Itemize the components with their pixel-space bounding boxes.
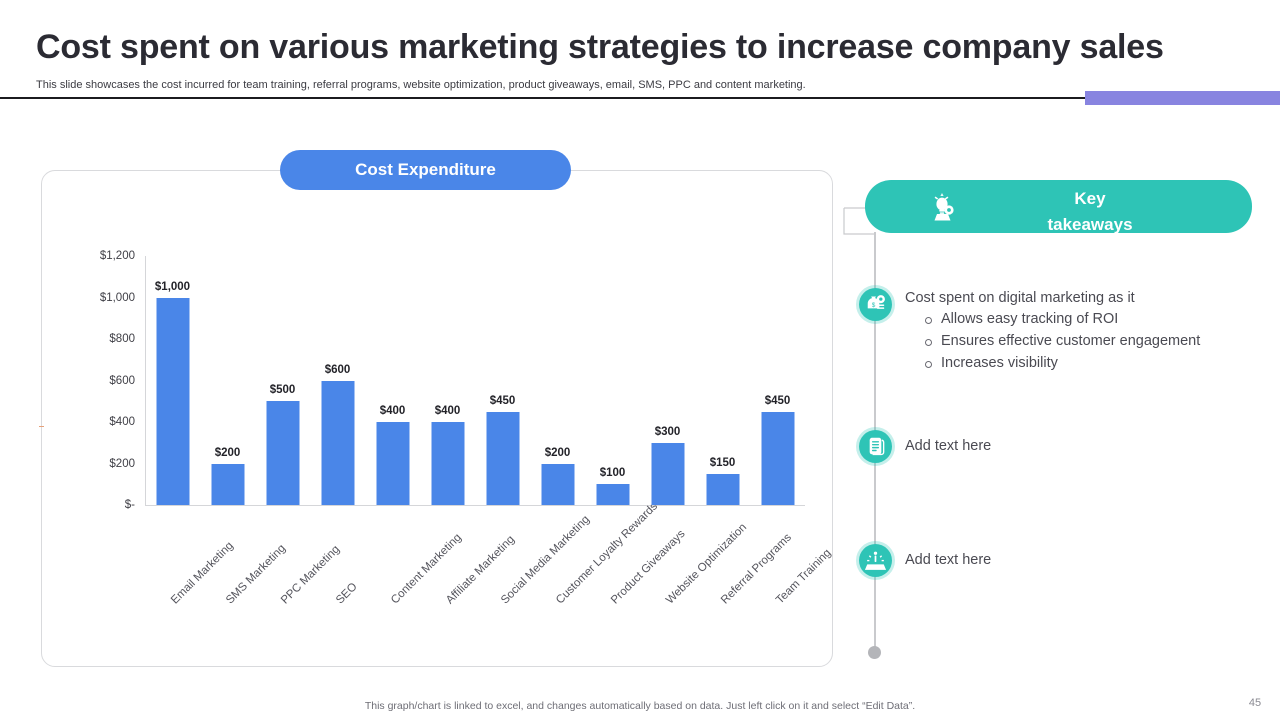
page-number: 45 [1240,697,1270,709]
bar[interactable] [431,422,464,505]
y-axis-tick: $200 [73,458,135,470]
x-axis-tick-label: SMS Marketing [224,542,288,606]
bar-slot: $200 [530,256,585,505]
bar-slot: $200 [200,256,255,505]
bar-slot: $1,000 [145,256,200,505]
money-bag-gear-icon: $ [859,288,892,321]
y-axis-tick: $600 [73,375,135,387]
bar-value-label: $500 [270,384,296,396]
y-axis-tick: $400 [73,416,135,428]
bar-value-label: $150 [710,457,736,469]
y-axis-tick: $- [73,499,135,511]
x-axis-tick-label: Social Media Marketing [499,513,592,606]
bar-chart[interactable]: $-$200$400$600$800$1,000$1,200 $1,000Ema… [41,170,831,665]
x-axis-line [145,505,805,506]
page-title: Cost spent on various marketing strategi… [36,28,1164,67]
key-takeaway-sublist: Allows easy tracking of ROIEnsures effec… [905,308,1200,374]
bar-slot: $150 [695,256,750,505]
key-takeaways-header: Key takeaways [865,180,1252,233]
bar-value-label: $600 [325,364,351,376]
y-axis-tick: $1,000 [73,292,135,304]
bar[interactable] [761,412,794,505]
key-takeaway-subitem: Increases visibility [905,352,1200,374]
bar-value-label: $200 [215,447,241,459]
key-takeaways-title-line1: Key [975,186,1205,212]
key-takeaway-body: Cost spent on digital marketing as itAll… [905,288,1200,374]
y-axis-labels: $-$200$400$600$800$1,000$1,200 [73,170,135,665]
bar[interactable] [376,422,409,505]
slide-header: Cost spent on various marketing strategi… [0,0,1280,100]
key-takeaway-text: Cost spent on digital marketing as it [905,288,1200,308]
bar-slot: $400 [420,256,475,505]
header-accent-bar [1085,91,1280,105]
key-takeaways-title-line2: takeaways [975,212,1205,238]
key-takeaway-body: Add text here [905,544,991,577]
bar-series: $1,000Email Marketing$200SMS Marketing$5… [145,256,805,505]
bar-slot: $300 [640,256,695,505]
y-axis-tick: $1,200 [73,250,135,262]
bar-value-label: $1,000 [155,281,190,293]
bar[interactable] [706,474,739,505]
x-axis-tick-label: Team Training [774,547,834,607]
svg-text:$: $ [872,302,876,309]
bar-value-label: $400 [380,405,406,417]
page-subtitle: This slide showcases the cost incurred f… [36,79,806,91]
bar[interactable] [651,443,684,505]
bar[interactable] [321,381,354,506]
bar[interactable] [211,464,244,506]
bar-value-label: $200 [545,447,571,459]
bar-value-label: $300 [655,426,681,438]
bar-slot: $450 [475,256,530,505]
bar-value-label: $450 [765,395,791,407]
bar-value-label: $400 [435,405,461,417]
bar[interactable] [266,401,299,505]
bar-slot: $600 [310,256,365,505]
bar[interactable] [596,484,629,505]
key-takeaways-title: Key takeaways [975,186,1205,238]
y-axis-tick: $800 [73,333,135,345]
document-stack-icon [859,430,892,463]
bar[interactable] [541,464,574,506]
x-axis-tick-label: Customer Loyalty Rewards [554,500,660,606]
lightbulb-money-idea-icon [925,188,963,226]
bar-slot: $400 [365,256,420,505]
bar[interactable] [486,412,519,505]
x-axis-tick-label: PPC Marketing [279,543,342,606]
key-takeaway-subitem: Allows easy tracking of ROI [905,308,1200,330]
bar-slot: $450 [750,256,805,505]
bar[interactable] [156,298,189,506]
bar-slot: $500 [255,256,310,505]
key-takeaway-text: Add text here [905,430,991,463]
footer-note: This graph/chart is linked to excel, and… [0,700,1280,712]
fountain-burst-icon [859,544,892,577]
header-divider [0,97,1085,99]
key-takeaway-subitem: Ensures effective customer engagement [905,330,1200,352]
bar-slot: $100 [585,256,640,505]
bar-value-label: $450 [490,395,516,407]
timeline-end-dot [868,646,881,659]
key-takeaway-text: Add text here [905,544,991,577]
key-takeaway-body: Add text here [905,430,991,463]
bar-value-label: $100 [600,467,626,479]
x-axis-tick-label: SEO [334,581,360,607]
